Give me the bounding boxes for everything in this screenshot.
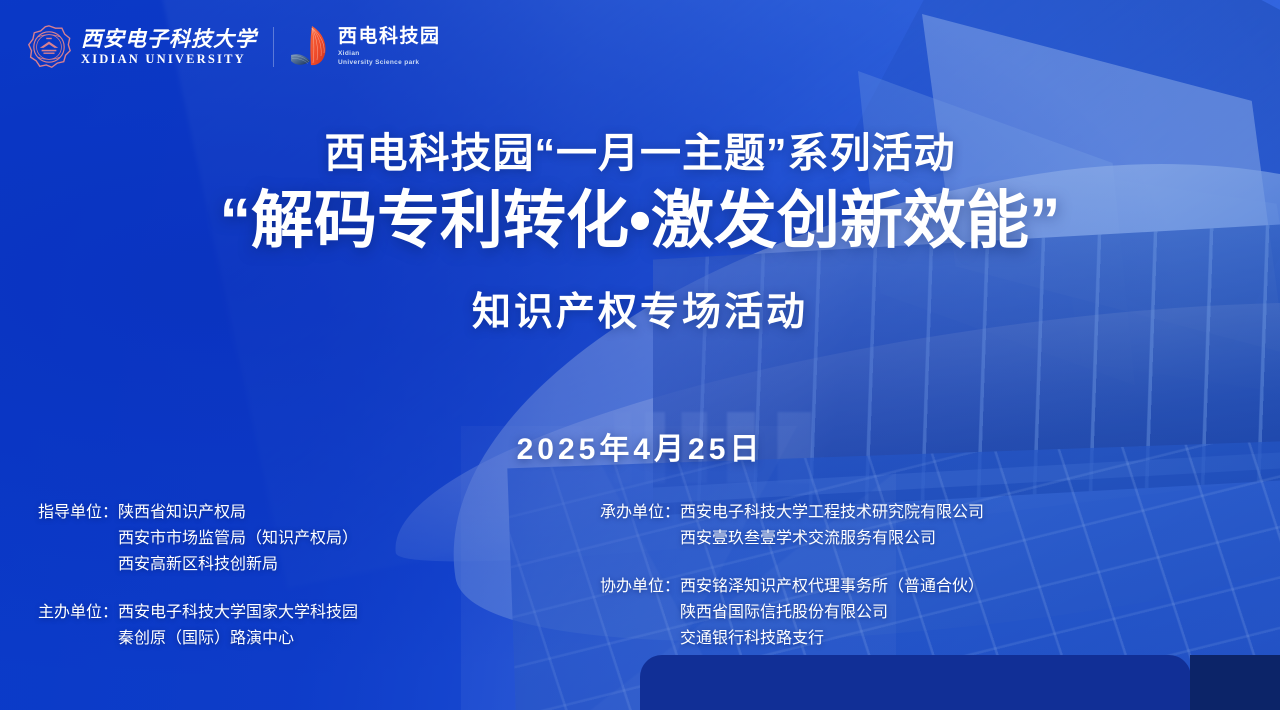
university-name-cn: 西安电子科技大学 — [81, 29, 257, 50]
event-poster: 西安电子科技大学 XIDIAN UNIVERSITY — [0, 0, 1280, 710]
credit-values: 西安电子科技大学工程技术研究院有限公司 西安壹玖叁壹学术交流服务有限公司 — [680, 500, 984, 552]
header-logos: 西安电子科技大学 XIDIAN UNIVERSITY — [26, 24, 441, 70]
university-logo: 西安电子科技大学 XIDIAN UNIVERSITY — [26, 24, 257, 70]
science-park-name-en-line2: University Science park — [338, 59, 419, 66]
credit-row: 协办单位： 西安铭泽知识产权代理事务所（普通合伙） 陕西省国际信托股份有限公司 … — [560, 574, 1080, 652]
science-park-logo: 西电科技园 Xidian University Science park — [290, 25, 441, 69]
credit-value: 西安电子科技大学国家大学科技园 — [118, 600, 358, 626]
credit-value: 陕西省知识产权局 — [118, 500, 358, 526]
logo-divider — [273, 27, 274, 67]
credit-row: 主办单位： 西安电子科技大学国家大学科技园 秦创原（国际）路演中心 — [0, 600, 520, 652]
poster-titles: 西电科技园“一月一主题”系列活动 “解码专利转化•激发创新效能” 知识产权专场活… — [0, 128, 1280, 339]
credit-row: 承办单位： 西安电子科技大学工程技术研究院有限公司 西安壹玖叁壹学术交流服务有限… — [560, 500, 1080, 552]
sail-logo-icon — [290, 25, 330, 69]
credit-values: 西安电子科技大学国家大学科技园 秦创原（国际）路演中心 — [118, 600, 358, 652]
credit-value: 西安市市场监管局（知识产权局） — [118, 526, 358, 552]
credit-block-organizer: 承办单位： 西安电子科技大学工程技术研究院有限公司 西安壹玖叁壹学术交流服务有限… — [560, 500, 1080, 552]
science-park-name-en: Xidian University Science park — [338, 50, 441, 68]
xidian-crest-icon — [26, 24, 72, 70]
credit-block-host: 主办单位： 西安电子科技大学国家大学科技园 秦创原（国际）路演中心 — [0, 600, 520, 652]
credit-label: 承办单位： — [560, 500, 680, 526]
science-park-name-en-line1: Xidian — [338, 50, 360, 57]
event-date: 2025年4月25日 — [0, 424, 1280, 468]
title-subtitle: 知识产权专场活动 — [0, 288, 1280, 339]
title-main-theme: “解码专利转化•激发创新效能” — [0, 181, 1280, 262]
credit-row: 指导单位： 陕西省知识产权局 西安市市场监管局（知识产权局） 西安高新区科技创新… — [0, 500, 520, 578]
university-wordmark: 西安电子科技大学 XIDIAN UNIVERSITY — [81, 29, 257, 66]
credits-left-column: 指导单位： 陕西省知识产权局 西安市市场监管局（知识产权局） 西安高新区科技创新… — [0, 500, 520, 652]
bottom-rounded-panel — [640, 655, 1191, 710]
credit-value: 西安壹玖叁壹学术交流服务有限公司 — [680, 526, 984, 552]
credit-value: 陕西省国际信托股份有限公司 — [680, 600, 984, 626]
credit-value: 西安高新区科技创新局 — [118, 552, 358, 578]
credit-block-guidance: 指导单位： 陕西省知识产权局 西安市市场监管局（知识产权局） 西安高新区科技创新… — [0, 500, 520, 578]
title-series-line: 西电科技园“一月一主题”系列活动 — [0, 128, 1280, 179]
bottom-right-dark-block — [1190, 655, 1280, 710]
credit-label: 协办单位： — [560, 574, 680, 600]
credit-block-coorganizer: 协办单位： 西安铭泽知识产权代理事务所（普通合伙） 陕西省国际信托股份有限公司 … — [560, 574, 1080, 652]
credit-value: 西安铭泽知识产权代理事务所（普通合伙） — [680, 574, 984, 600]
science-park-wordmark: 西电科技园 Xidian University Science park — [338, 27, 441, 68]
credit-value: 秦创原（国际）路演中心 — [118, 626, 358, 652]
credit-value: 西安电子科技大学工程技术研究院有限公司 — [680, 500, 984, 526]
credit-label: 指导单位： — [0, 500, 118, 526]
university-name-en: XIDIAN UNIVERSITY — [81, 53, 257, 66]
credit-values: 陕西省知识产权局 西安市市场监管局（知识产权局） 西安高新区科技创新局 — [118, 500, 358, 578]
credits-right-column: 承办单位： 西安电子科技大学工程技术研究院有限公司 西安壹玖叁壹学术交流服务有限… — [560, 500, 1080, 652]
credit-value: 交通银行科技路支行 — [680, 626, 984, 652]
credit-values: 西安铭泽知识产权代理事务所（普通合伙） 陕西省国际信托股份有限公司 交通银行科技… — [680, 574, 984, 652]
science-park-name-cn: 西电科技园 — [338, 27, 441, 46]
credit-label: 主办单位： — [0, 600, 118, 626]
